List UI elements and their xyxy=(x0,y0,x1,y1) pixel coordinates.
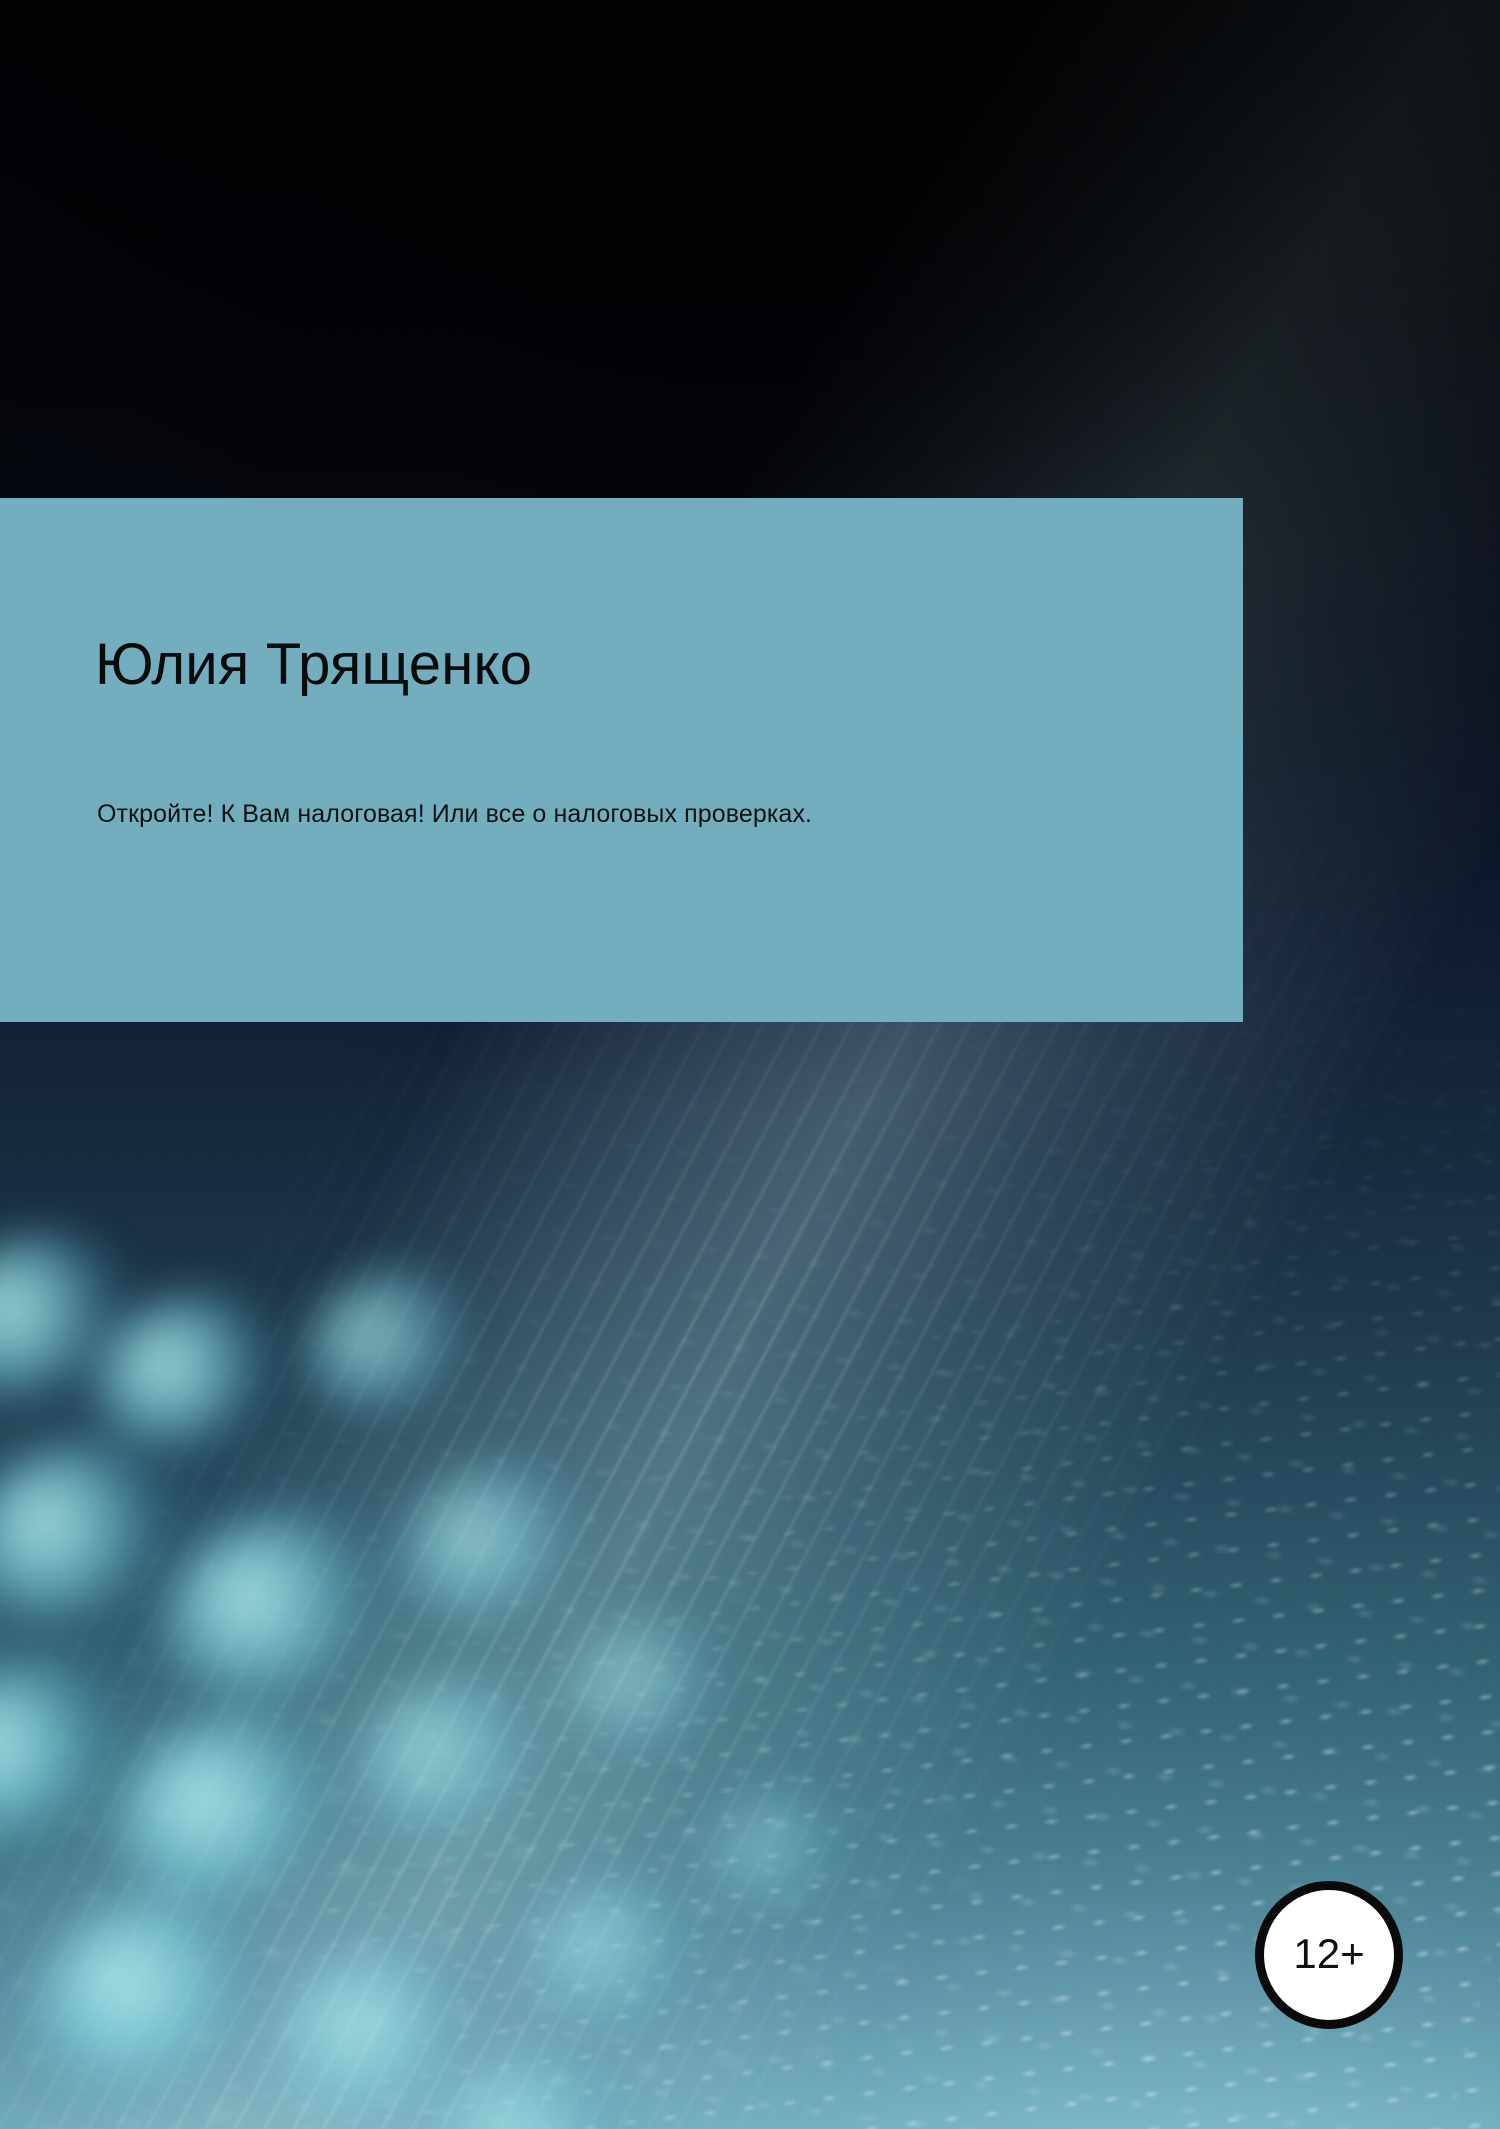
age-rating-badge: 12+ xyxy=(1255,1881,1403,2029)
bokeh-dot xyxy=(68,1264,301,1477)
bokeh-dot xyxy=(245,1909,510,2129)
bokeh-dot xyxy=(0,1629,150,1871)
bokeh-dot xyxy=(498,1845,726,2054)
background-gradient xyxy=(0,0,1500,2129)
bokeh-dot xyxy=(682,1760,873,1934)
book-cover: Юлия Трященко Откройте! К Вам налоговая!… xyxy=(0,0,1500,2129)
bokeh-dot xyxy=(541,1587,750,1777)
diagonal-glow-band xyxy=(0,0,1500,2129)
dot-matrix-far-icon xyxy=(0,0,1500,2129)
bokeh-dot xyxy=(372,1433,612,1653)
background-grain xyxy=(0,0,1500,2129)
diagonal-light-streaks xyxy=(0,0,1500,2129)
bokeh-dot xyxy=(0,1409,200,1651)
background-vignette xyxy=(0,0,1500,2129)
bottom-right-glow xyxy=(0,0,1500,2129)
book-subtitle: Откройте! К Вам налоговая! Или все о нал… xyxy=(97,798,812,831)
dot-matrix-wave-icon xyxy=(0,0,1500,2129)
dot-matrix-mid-icon xyxy=(0,0,1500,2129)
age-rating-label: 12+ xyxy=(1293,1933,1364,1975)
bokeh-dot xyxy=(406,2022,653,2129)
bokeh-dot xyxy=(280,1242,496,1439)
bokeh-dot xyxy=(134,1477,412,1731)
bokeh-dot xyxy=(326,1642,573,1868)
author-name: Юлия Трященко xyxy=(95,633,532,697)
bokeh-dot xyxy=(0,1202,154,1428)
title-panel xyxy=(0,498,1243,1022)
bokeh-dot xyxy=(83,1675,373,1940)
bokeh-cluster xyxy=(0,0,1500,2129)
bokeh-dot xyxy=(2,1854,298,2126)
